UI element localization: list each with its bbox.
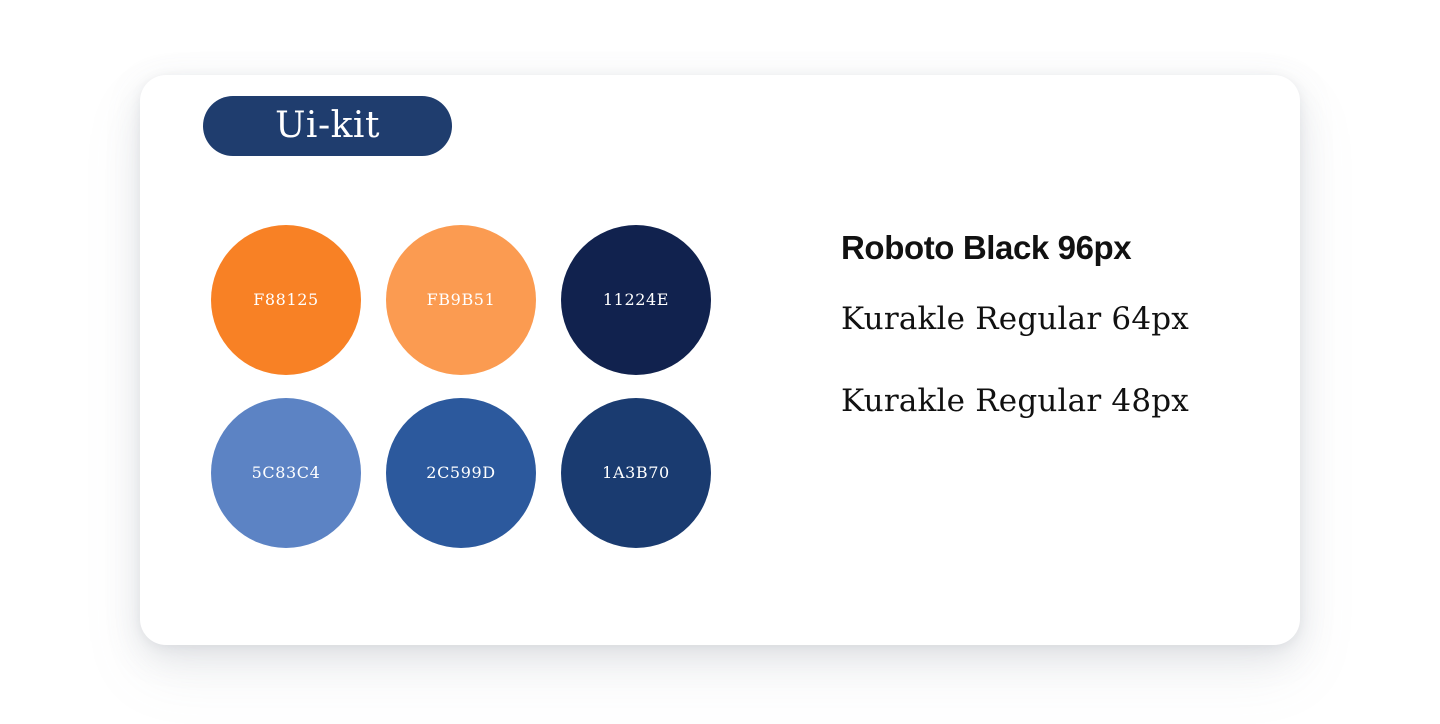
color-swatch-label: 2C599D — [426, 465, 495, 481]
color-swatch[interactable]: 1A3B70 — [561, 398, 711, 548]
color-swatch[interactable]: F88125 — [211, 225, 361, 375]
typography-specimen-list: Roboto Black 96px Kurakle Regular 64px K… — [841, 218, 1271, 442]
color-swatch[interactable]: FB9B51 — [386, 225, 536, 375]
color-swatch-label: 1A3B70 — [602, 465, 670, 481]
typography-specimen: Kurakle Regular 48px — [841, 360, 1271, 442]
color-palette-grid: F88125 FB9B51 11224E 5C83C4 2C599D 1A3B7… — [211, 225, 731, 571]
color-swatch-label: FB9B51 — [427, 292, 496, 308]
color-swatch[interactable]: 5C83C4 — [211, 398, 361, 548]
page-root: Ui-kit F88125 FB9B51 11224E 5C83C4 2C599… — [0, 0, 1440, 724]
color-swatch[interactable]: 11224E — [561, 225, 711, 375]
ui-kit-badge[interactable]: Ui-kit — [203, 96, 452, 156]
color-palette-row: 5C83C4 2C599D 1A3B70 — [211, 398, 731, 548]
ui-kit-badge-label: Ui-kit — [275, 108, 380, 144]
color-swatch[interactable]: 2C599D — [386, 398, 536, 548]
color-swatch-label: F88125 — [253, 292, 319, 308]
color-palette-row: F88125 FB9B51 11224E — [211, 225, 731, 375]
typography-specimen: Roboto Black 96px — [841, 218, 1271, 278]
color-swatch-label: 5C83C4 — [252, 465, 321, 481]
typography-specimen: Kurakle Regular 64px — [841, 278, 1271, 360]
color-swatch-label: 11224E — [603, 292, 669, 308]
